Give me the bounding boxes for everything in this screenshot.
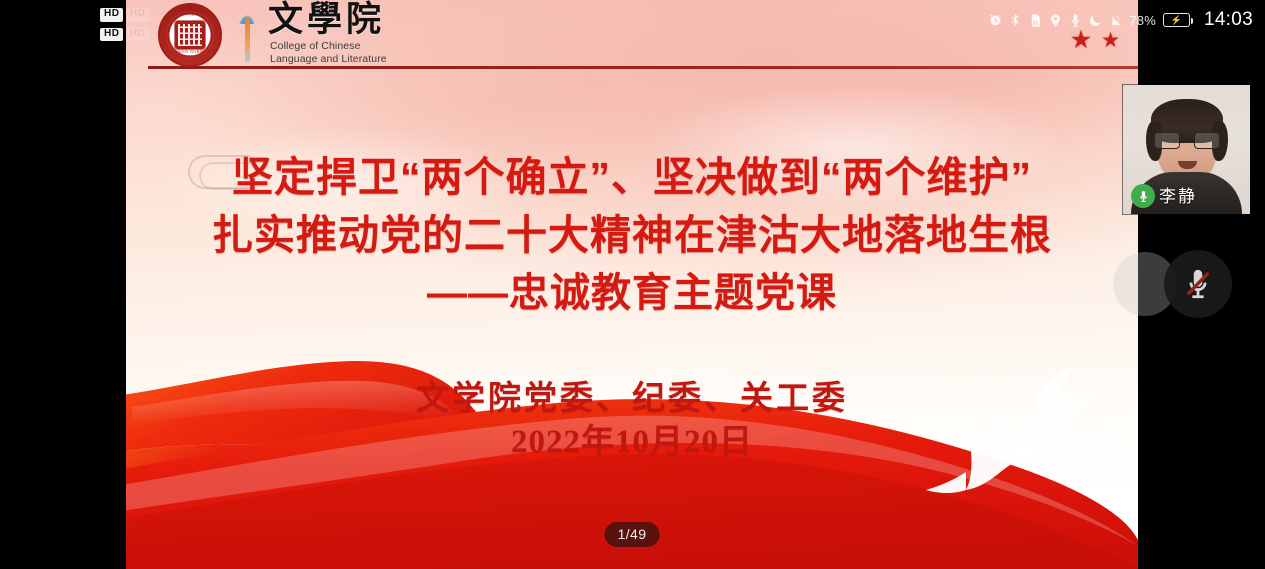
college-sub-line2: Language and Literature [270,53,387,66]
glasses-bridge [1180,139,1194,141]
college-sub-line1: College of Chinese [270,40,387,53]
page-indicator[interactable]: 1/49 [605,522,660,547]
status-icon-group [988,13,1123,28]
participant-mic-indicator [1131,184,1155,208]
hd-badge-ghost-group: HD HD [126,8,149,41]
hd-badge-secondary: HD [100,28,123,42]
slide-subtitle-date: 2022年10月20日 [126,420,1138,464]
slide-title-line-2: 扎实推动党的二十大精神在津沽大地落地生根 [126,206,1138,264]
slide-subtitle-block: 文学院党委、纪委、关工委 2022年10月20日 [126,378,1138,464]
location-icon [1048,13,1063,28]
battery-charging-icon: ⚡ [1163,13,1190,27]
hd-badge-ghost: HD [126,28,149,42]
glasses-lens-left [1154,132,1180,149]
brush-ornament-icon [238,4,256,62]
microphone-icon [1068,13,1083,28]
sim-card-icon [1028,13,1043,28]
battery-percent-label: 78% [1129,13,1156,28]
mute-toggle-button[interactable] [1164,250,1232,318]
slide-title-block: 坚定捍卫“两个确立”、坚决做到“两个维护” 扎实推动党的二十大精神在津沽大地落地… [126,148,1138,322]
status-clock: 14:03 [1204,9,1253,31]
college-name: 文學院 [268,1,385,39]
slide-header: 天津师范大学 1958 TIANJIN NORMAL UNIVERSITY 文學… [126,0,1138,72]
slide-title-line-1: 坚定捍卫“两个确立”、坚决做到“两个维护” [126,148,1138,206]
alarm-clock-icon [988,13,1003,28]
participant-glasses [1154,132,1220,149]
seal-text-bottom: TIANJIN NORMAL UNIVERSITY [160,49,220,59]
hd-badge-ghost: HD [126,8,149,22]
shared-slide[interactable]: 天津师范大学 1958 TIANJIN NORMAL UNIVERSITY 文學… [126,0,1138,569]
system-status-bar: 78% ⚡ 14:03 [988,0,1265,40]
glasses-lens-right [1194,132,1220,149]
college-name-english: College of Chinese Language and Literatu… [270,40,387,67]
hd-badge-group: HD HD [100,8,123,41]
slide-title-line-3: ——忠诚教育主题党课 [126,264,1138,322]
meeting-screen: 天津师范大学 1958 TIANJIN NORMAL UNIVERSITY 文學… [0,0,1265,569]
letterbox-left [0,0,96,569]
microphone-muted-icon [1181,267,1215,301]
do-not-disturb-moon-icon [1088,13,1103,28]
hd-badge-primary: HD [100,8,123,22]
seal-text-top: 天津师范大学 [160,11,220,17]
participant-name: 李静 [1159,182,1197,207]
brush-handle [245,18,250,62]
charging-bolt: ⚡ [1171,16,1182,25]
microphone-icon [1137,190,1150,203]
slide-subtitle-org: 文学院党委、纪委、关工委 [126,378,1138,420]
bluetooth-icon [1008,13,1023,28]
ringer-muted-icon [1108,13,1123,28]
participant-video-tile[interactable]: 李静 [1123,85,1250,214]
university-seal: 天津师范大学 1958 TIANJIN NORMAL UNIVERSITY [158,3,222,67]
